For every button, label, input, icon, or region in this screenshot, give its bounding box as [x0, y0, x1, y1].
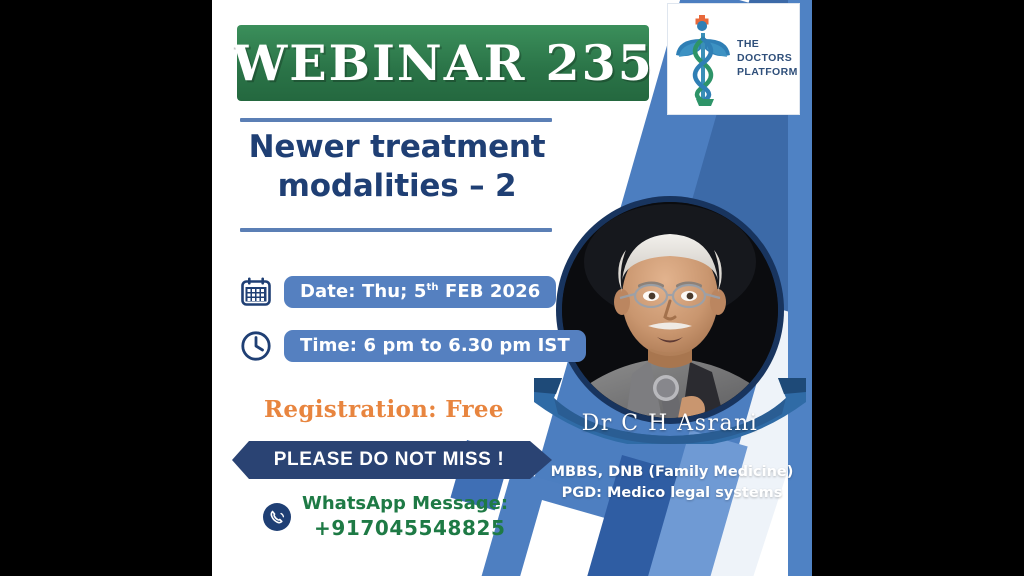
credential-line-2: PGD: Medico legal systems	[542, 483, 802, 504]
webinar-title: WEBINAR 235	[232, 34, 654, 92]
credential-line-1: MBBS, DNB (Family Medicine)	[542, 462, 802, 483]
brand-logo-line-2: DOCTORS	[737, 52, 798, 66]
webinar-poster: Dr C H Asrani MBBS, DNB (Family Medicine…	[212, 0, 812, 576]
whatsapp-text: WhatsApp Message: +917045548825	[302, 492, 508, 541]
speaker-name-ribbon: Dr C H Asrani	[532, 372, 808, 444]
call-to-action-text: PLEASE DO NOT MISS !	[274, 449, 511, 471]
date-ordinal: th	[426, 282, 438, 293]
caduceus-logo-icon	[674, 9, 736, 109]
speaker-name: Dr C H Asrani	[582, 411, 759, 444]
speaker-name-text-wrap: Dr C H Asrani	[532, 372, 808, 444]
letterbox-left	[0, 0, 212, 576]
calendar-icon	[240, 276, 272, 308]
screenshot-stage: Dr C H Asrani MBBS, DNB (Family Medicine…	[0, 0, 1024, 576]
clock-icon	[240, 330, 272, 362]
webinar-topic: Newer treatment modalities – 2	[232, 128, 562, 207]
brand-logo-text: THE DOCTORS PLATFORM	[737, 38, 798, 80]
webinar-topic-line-1: Newer treatment	[232, 128, 562, 167]
brand-logo-line-1: THE	[737, 38, 798, 52]
webinar-topic-line-2: modalities – 2	[232, 167, 562, 206]
poster-content-layer: Dr C H Asrani MBBS, DNB (Family Medicine…	[212, 0, 812, 576]
registration-text: Registration: Free	[264, 396, 504, 423]
whatsapp-phone-icon[interactable]	[262, 502, 292, 532]
title-divider-bottom	[240, 228, 552, 232]
time-row: Time: 6 pm to 6.30 pm IST	[240, 330, 586, 362]
time-pill: Time: 6 pm to 6.30 pm IST	[284, 330, 586, 362]
brand-logo-card: THE DOCTORS PLATFORM	[667, 3, 800, 115]
whatsapp-title: WhatsApp Message:	[302, 492, 508, 515]
letterbox-right	[812, 0, 1024, 576]
date-row: Date: Thu; 5th FEB 2026	[240, 276, 556, 308]
date-rest: FEB 2026	[439, 281, 541, 302]
call-to-action-banner: PLEASE DO NOT MISS !	[232, 441, 552, 479]
date-label: Date: Thu; 5	[300, 281, 426, 302]
whatsapp-number[interactable]: +917045548825	[302, 515, 508, 541]
webinar-title-banner: WEBINAR 235	[237, 25, 649, 101]
title-divider-top	[240, 118, 552, 122]
date-pill: Date: Thu; 5th FEB 2026	[284, 276, 556, 308]
speaker-credentials: MBBS, DNB (Family Medicine) PGD: Medico …	[542, 462, 802, 503]
brand-logo-line-3: PLATFORM	[737, 66, 798, 80]
whatsapp-contact[interactable]: WhatsApp Message: +917045548825	[262, 492, 508, 541]
